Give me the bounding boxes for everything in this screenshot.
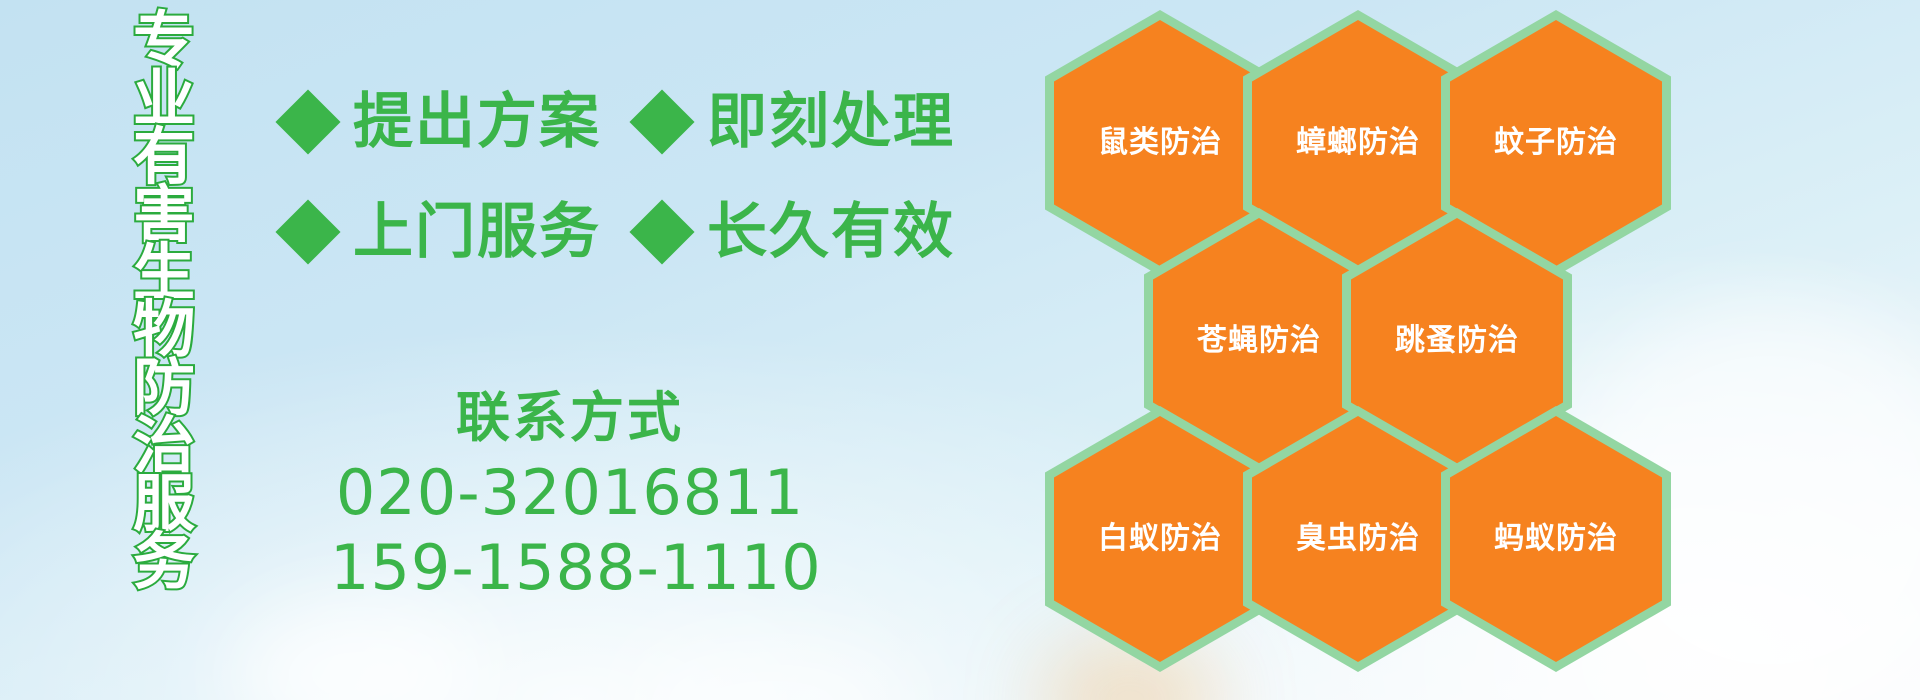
background-bokeh-left [230,600,490,700]
service-hex-label: 白蚁防治 [1098,524,1222,554]
diamond-icon [275,199,340,264]
service-hex-label: 蚊子防治 [1494,128,1618,158]
slogan-onsite-service: 上门服务 [285,202,601,262]
contact-heading: 联系方式 [330,390,810,447]
slogan-label: 提出方案 [353,92,601,152]
service-hex-label: 苍蝇防治 [1197,326,1321,356]
slogan-immediate-action: 即刻处理 [639,92,955,152]
service-hex-label: 鼠类防治 [1098,128,1222,158]
service-hex-label: 臭虫防治 [1296,524,1420,554]
vertical-headline-char: 务 [133,533,195,592]
slogan-long-lasting: 长久有效 [639,202,955,262]
service-hex-label: 蚂蚁防治 [1494,524,1618,554]
vertical-headline: 专 业 有 害 生 物 防 治 服 务 [108,12,220,572]
contact-phone-mobile[interactable]: 159-1588-1110 [330,530,810,606]
contact-block: 联系方式 020-32016811 159-1588-1110 [330,390,810,606]
diamond-icon [629,199,694,264]
diamond-icon [275,89,340,154]
slogan-label: 长久有效 [707,202,955,262]
slogan-propose-plan: 提出方案 [285,92,601,152]
contact-phone-landline[interactable]: 020-32016811 [330,455,810,531]
background-bokeh-center [620,640,920,700]
service-hex-label: 蟑螂防治 [1296,128,1420,158]
promo-banner: 专 业 有 害 生 物 防 治 服 务 提出方案 即刻处理 上门服务 长久有效 [0,0,1920,700]
slogan-row-2: 上门服务 长久有效 [285,202,955,262]
diamond-icon [629,89,694,154]
service-hex-label: 跳蚤防治 [1395,326,1519,356]
service-hexagon-grid: 鼠类防治 蟑螂防治 蚊子防治 苍蝇防治 跳蚤防治 白蚁防治 臭虫防治 [1045,0,1685,700]
slogan-label: 即刻处理 [707,92,955,152]
slogan-row-1: 提出方案 即刻处理 [285,92,955,152]
slogan-label: 上门服务 [353,202,601,262]
